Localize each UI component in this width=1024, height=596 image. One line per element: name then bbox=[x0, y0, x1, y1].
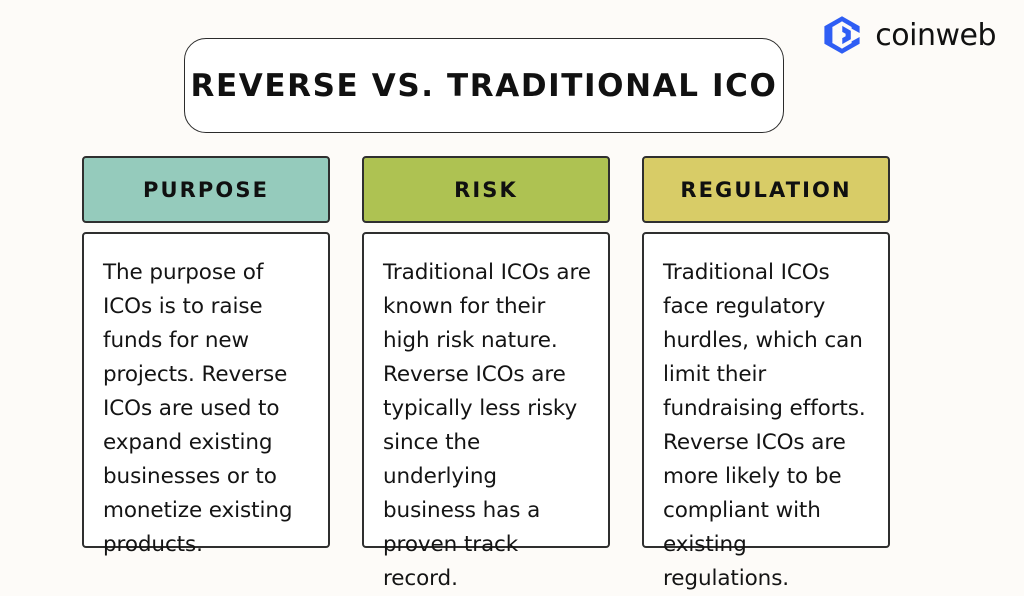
comparison-columns: PURPOSE The purpose of ICOs is to raise … bbox=[82, 156, 890, 548]
column-header-label: PURPOSE bbox=[143, 178, 269, 202]
column-body-purpose: The purpose of ICOs is to raise funds fo… bbox=[82, 232, 330, 548]
column-body-text: Traditional ICOs face regulatory hurdles… bbox=[663, 256, 872, 596]
coinweb-hex-logo-icon bbox=[822, 15, 862, 55]
column-body-regulation: Traditional ICOs face regulatory hurdles… bbox=[642, 232, 890, 548]
column-header-regulation: REGULATION bbox=[642, 156, 890, 223]
brand-logo: coinweb bbox=[822, 14, 996, 56]
column-purpose: PURPOSE The purpose of ICOs is to raise … bbox=[82, 156, 330, 548]
page-title-box: REVERSE VS. TRADITIONAL ICO bbox=[184, 38, 784, 133]
page-title: REVERSE VS. TRADITIONAL ICO bbox=[191, 68, 778, 104]
column-header-label: REGULATION bbox=[680, 178, 851, 202]
column-body-text: Traditional ICOs are known for their hig… bbox=[383, 256, 592, 596]
column-header-purpose: PURPOSE bbox=[82, 156, 330, 223]
column-body-text: The purpose of ICOs is to raise funds fo… bbox=[103, 256, 312, 562]
column-body-risk: Traditional ICOs are known for their hig… bbox=[362, 232, 610, 548]
column-header-risk: RISK bbox=[362, 156, 610, 223]
column-header-label: RISK bbox=[454, 178, 518, 202]
column-risk: RISK Traditional ICOs are known for thei… bbox=[362, 156, 610, 548]
column-regulation: REGULATION Traditional ICOs face regulat… bbox=[642, 156, 890, 548]
brand-wordmark: coinweb bbox=[875, 21, 996, 51]
